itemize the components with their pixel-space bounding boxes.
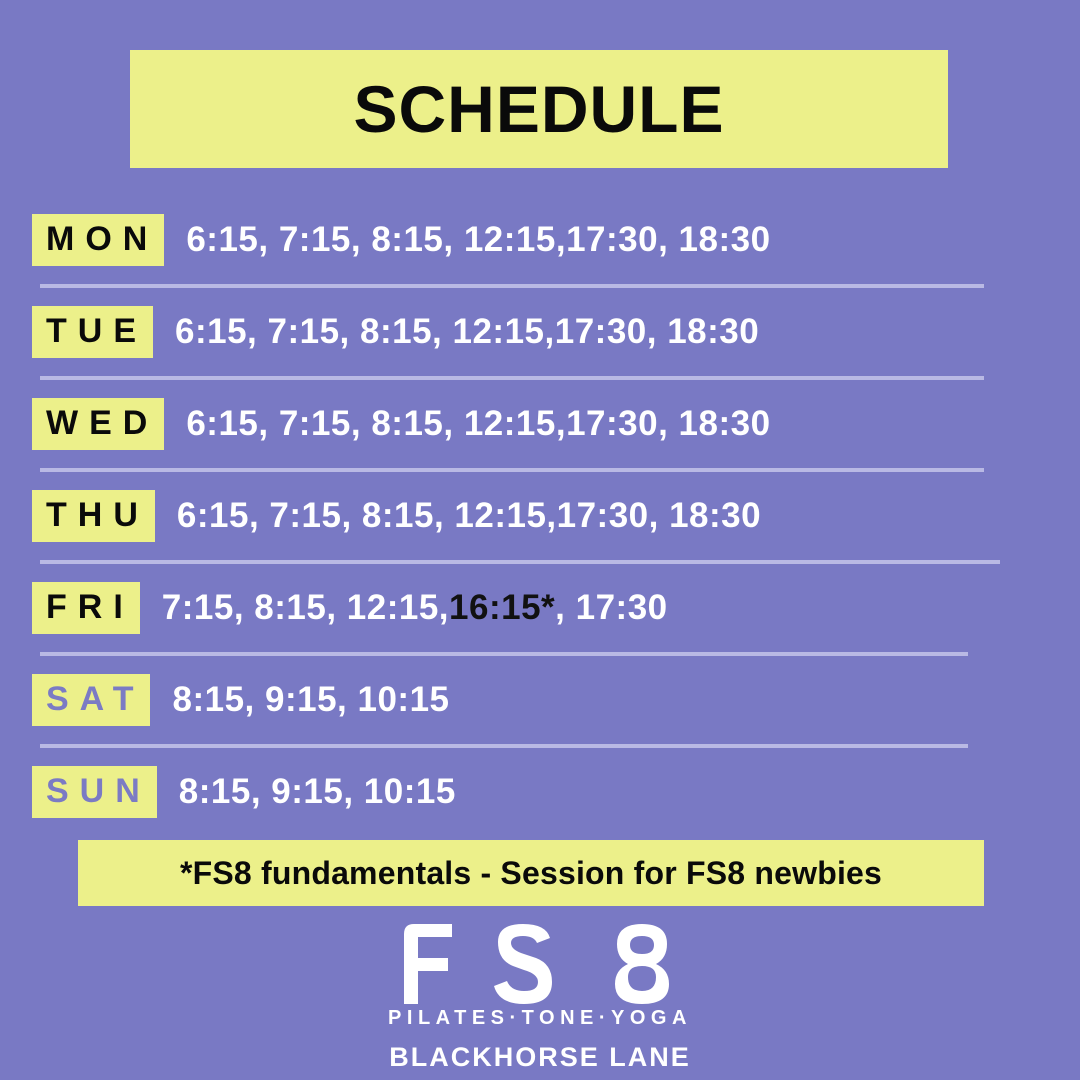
schedule-row: WED6:15, 7:15, 8:15, 12:15,17:30, 18:30: [0, 380, 1080, 468]
footnote-text: *FS8 fundamentals - Session for FS8 newb…: [180, 855, 882, 892]
schedule-row: SAT8:15, 9:15, 10:15: [0, 656, 1080, 744]
class-times-sat: 8:15, 9:15, 10:15: [172, 680, 449, 720]
studio-location: BLACKHORSE LANE: [0, 1044, 1080, 1071]
class-times-mon: 6:15, 7:15, 8:15, 12:15,17:30, 18:30: [186, 220, 770, 260]
brand-logo-block: PILATES·TONE·YOGA BLACKHORSE LANE: [0, 920, 1080, 1071]
schedule-title-banner: SCHEDULE: [130, 50, 948, 168]
time-segment: 8:15, 9:15, 10:15: [172, 680, 449, 719]
schedule-row: FRI7:15, 8:15, 12:15,16:15*, 17:30: [0, 564, 1080, 652]
time-segment: 6:15, 7:15, 8:15, 12:15,17:30, 18:30: [175, 312, 759, 351]
highlighted-session-time: 16:15*: [449, 588, 555, 627]
class-times-tue: 6:15, 7:15, 8:15, 12:15,17:30, 18:30: [175, 312, 759, 352]
time-segment: 8:15, 9:15, 10:15: [179, 772, 456, 811]
day-label-mon: MON: [32, 214, 164, 266]
page-title: SCHEDULE: [353, 76, 724, 142]
class-times-thu: 6:15, 7:15, 8:15, 12:15,17:30, 18:30: [177, 496, 761, 536]
footnote-banner: *FS8 fundamentals - Session for FS8 newb…: [78, 840, 984, 906]
time-segment: 7:15, 8:15, 12:15,: [162, 588, 449, 627]
day-label-wed: WED: [32, 398, 164, 450]
day-label-thu: THU: [32, 490, 155, 542]
day-label-sat: SAT: [32, 674, 150, 726]
time-segment: , 17:30: [555, 588, 667, 627]
day-label-sun: SUN: [32, 766, 157, 818]
day-label-tue: TUE: [32, 306, 153, 358]
schedule-row: MON6:15, 7:15, 8:15, 12:15,17:30, 18:30: [0, 196, 1080, 284]
schedule-table: MON6:15, 7:15, 8:15, 12:15,17:30, 18:30T…: [0, 196, 1080, 836]
schedule-row: SUN8:15, 9:15, 10:15: [0, 748, 1080, 836]
schedule-row: TUE6:15, 7:15, 8:15, 12:15,17:30, 18:30: [0, 288, 1080, 376]
class-times-sun: 8:15, 9:15, 10:15: [179, 772, 456, 812]
logo-tagline: PILATES·TONE·YOGA: [0, 1008, 1080, 1028]
class-times-wed: 6:15, 7:15, 8:15, 12:15,17:30, 18:30: [186, 404, 770, 444]
fs8-logo-icon: [390, 920, 690, 1006]
time-segment: 6:15, 7:15, 8:15, 12:15,17:30, 18:30: [186, 404, 770, 443]
time-segment: 6:15, 7:15, 8:15, 12:15,17:30, 18:30: [177, 496, 761, 535]
schedule-row: THU6:15, 7:15, 8:15, 12:15,17:30, 18:30: [0, 472, 1080, 560]
time-segment: 6:15, 7:15, 8:15, 12:15,17:30, 18:30: [186, 220, 770, 259]
day-label-fri: FRI: [32, 582, 140, 634]
class-times-fri: 7:15, 8:15, 12:15,16:15*, 17:30: [162, 588, 668, 628]
